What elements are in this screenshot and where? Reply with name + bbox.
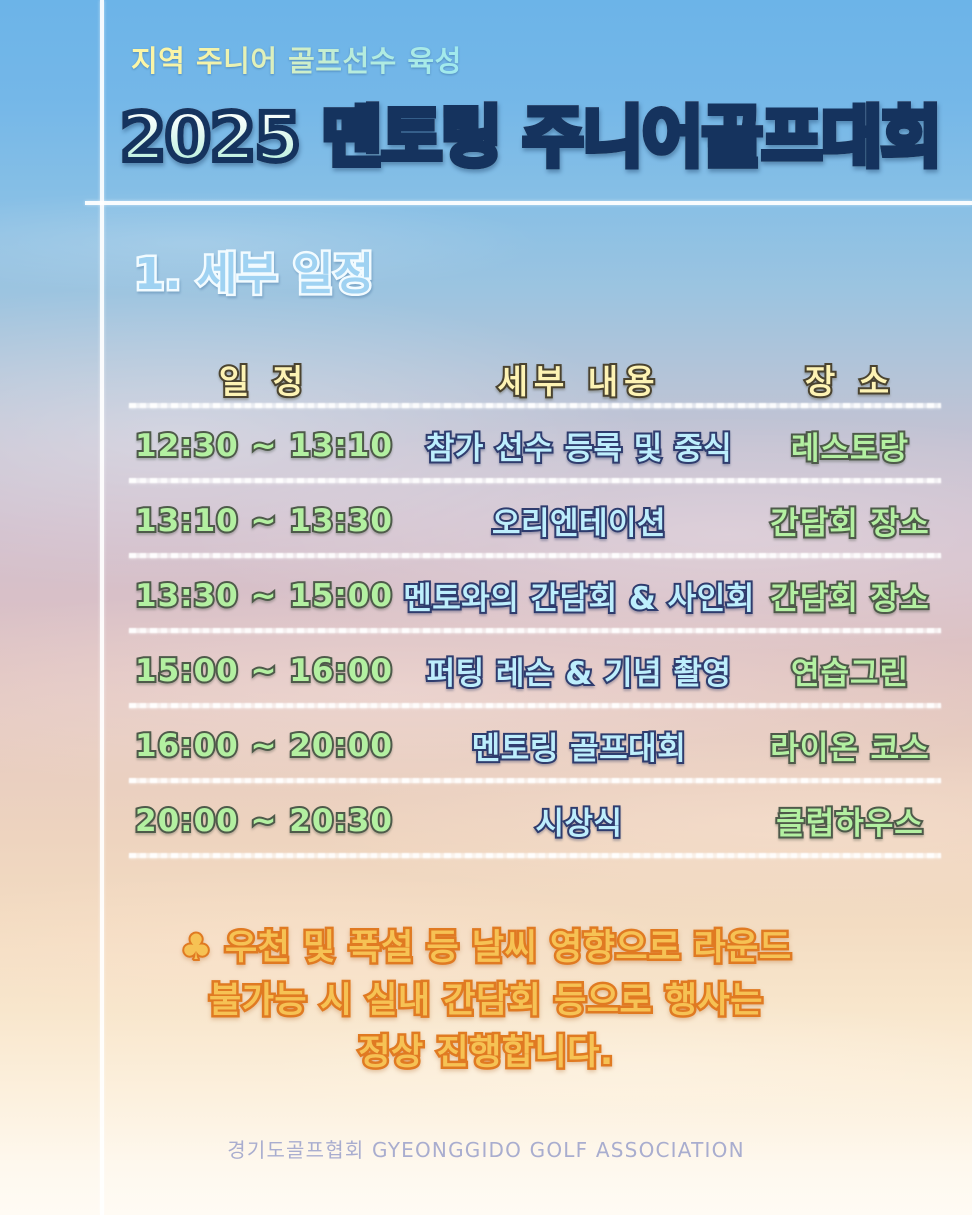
column-header-detail: 세부 내용 — [403, 355, 755, 403]
row-place: 레스토랑 — [755, 423, 945, 468]
table-row: 13:10 ~ 13:30 오리엔테이션 간담회 장소 — [125, 483, 945, 558]
table-row: 12:30 ~ 13:10 참가 선수 등록 및 중식 레스토랑 — [125, 408, 945, 483]
notice-line-3: 정상 진행합니다. — [0, 1027, 972, 1080]
weather-notice: ♣ 우천 및 폭설 등 날씨 영향으로 라운드 불가능 시 실내 간담회 등으로… — [0, 922, 972, 1080]
row-divider — [129, 853, 941, 858]
row-place: 간담회 장소 — [755, 573, 945, 618]
notice-line-2: 불가능 시 실내 간담회 등으로 행사는 — [0, 975, 972, 1028]
section-title: 1. 세부 일정 — [134, 238, 374, 302]
footer-organization: 경기도골프협회 GYEONGGIDO GOLF ASSOCIATION — [0, 1134, 972, 1163]
row-detail: 퍼팅 레슨 & 기념 촬영 — [403, 648, 755, 693]
row-time: 15:00 ~ 16:00 — [125, 653, 403, 689]
row-place: 연습그린 — [755, 648, 945, 693]
table-header-row: 일 정 세부 내용 장 소 — [125, 350, 945, 408]
row-time: 13:30 ~ 15:00 — [125, 578, 403, 614]
horizontal-rule — [85, 201, 972, 205]
row-detail: 시상식 — [403, 798, 755, 843]
table-row: 20:00 ~ 20:30 시상식 클럽하우스 — [125, 783, 945, 858]
row-detail: 오리엔테이션 — [403, 498, 755, 543]
row-time: 12:30 ~ 13:10 — [125, 428, 403, 464]
table-row: 16:00 ~ 20:00 멘토링 골프대회 라이온 코스 — [125, 708, 945, 783]
row-place: 라이온 코스 — [755, 723, 945, 768]
column-header-time: 일 정 — [125, 355, 403, 403]
column-header-place: 장 소 — [755, 355, 945, 403]
row-place: 클럽하우스 — [755, 798, 945, 843]
row-detail: 멘토와의 간담회 & 사인회 — [403, 573, 755, 618]
row-place: 간담회 장소 — [755, 498, 945, 543]
row-time: 20:00 ~ 20:30 — [125, 803, 403, 839]
row-time: 13:10 ~ 13:30 — [125, 503, 403, 539]
notice-line-1-text: 우천 및 폭설 등 날씨 영향으로 라운드 — [225, 928, 792, 968]
row-time: 16:00 ~ 20:00 — [125, 728, 403, 764]
table-row: 15:00 ~ 16:00 퍼팅 레슨 & 기념 촬영 연습그린 — [125, 633, 945, 708]
eyebrow-text: 지역 주니어 골프선수 육성 — [131, 38, 462, 80]
row-detail: 멘토링 골프대회 — [403, 723, 755, 768]
page-title: 2025 멘토링 주니어골프대회 — [120, 84, 941, 180]
table-row: 13:30 ~ 15:00 멘토와의 간담회 & 사인회 간담회 장소 — [125, 558, 945, 633]
row-detail: 참가 선수 등록 및 중식 — [403, 423, 755, 468]
notice-line-1: ♣ 우천 및 폭설 등 날씨 영향으로 라운드 — [0, 922, 972, 975]
schedule-table: 일 정 세부 내용 장 소 12:30 ~ 13:10 참가 선수 등록 및 중… — [125, 350, 945, 858]
club-icon: ♣ — [180, 928, 212, 968]
